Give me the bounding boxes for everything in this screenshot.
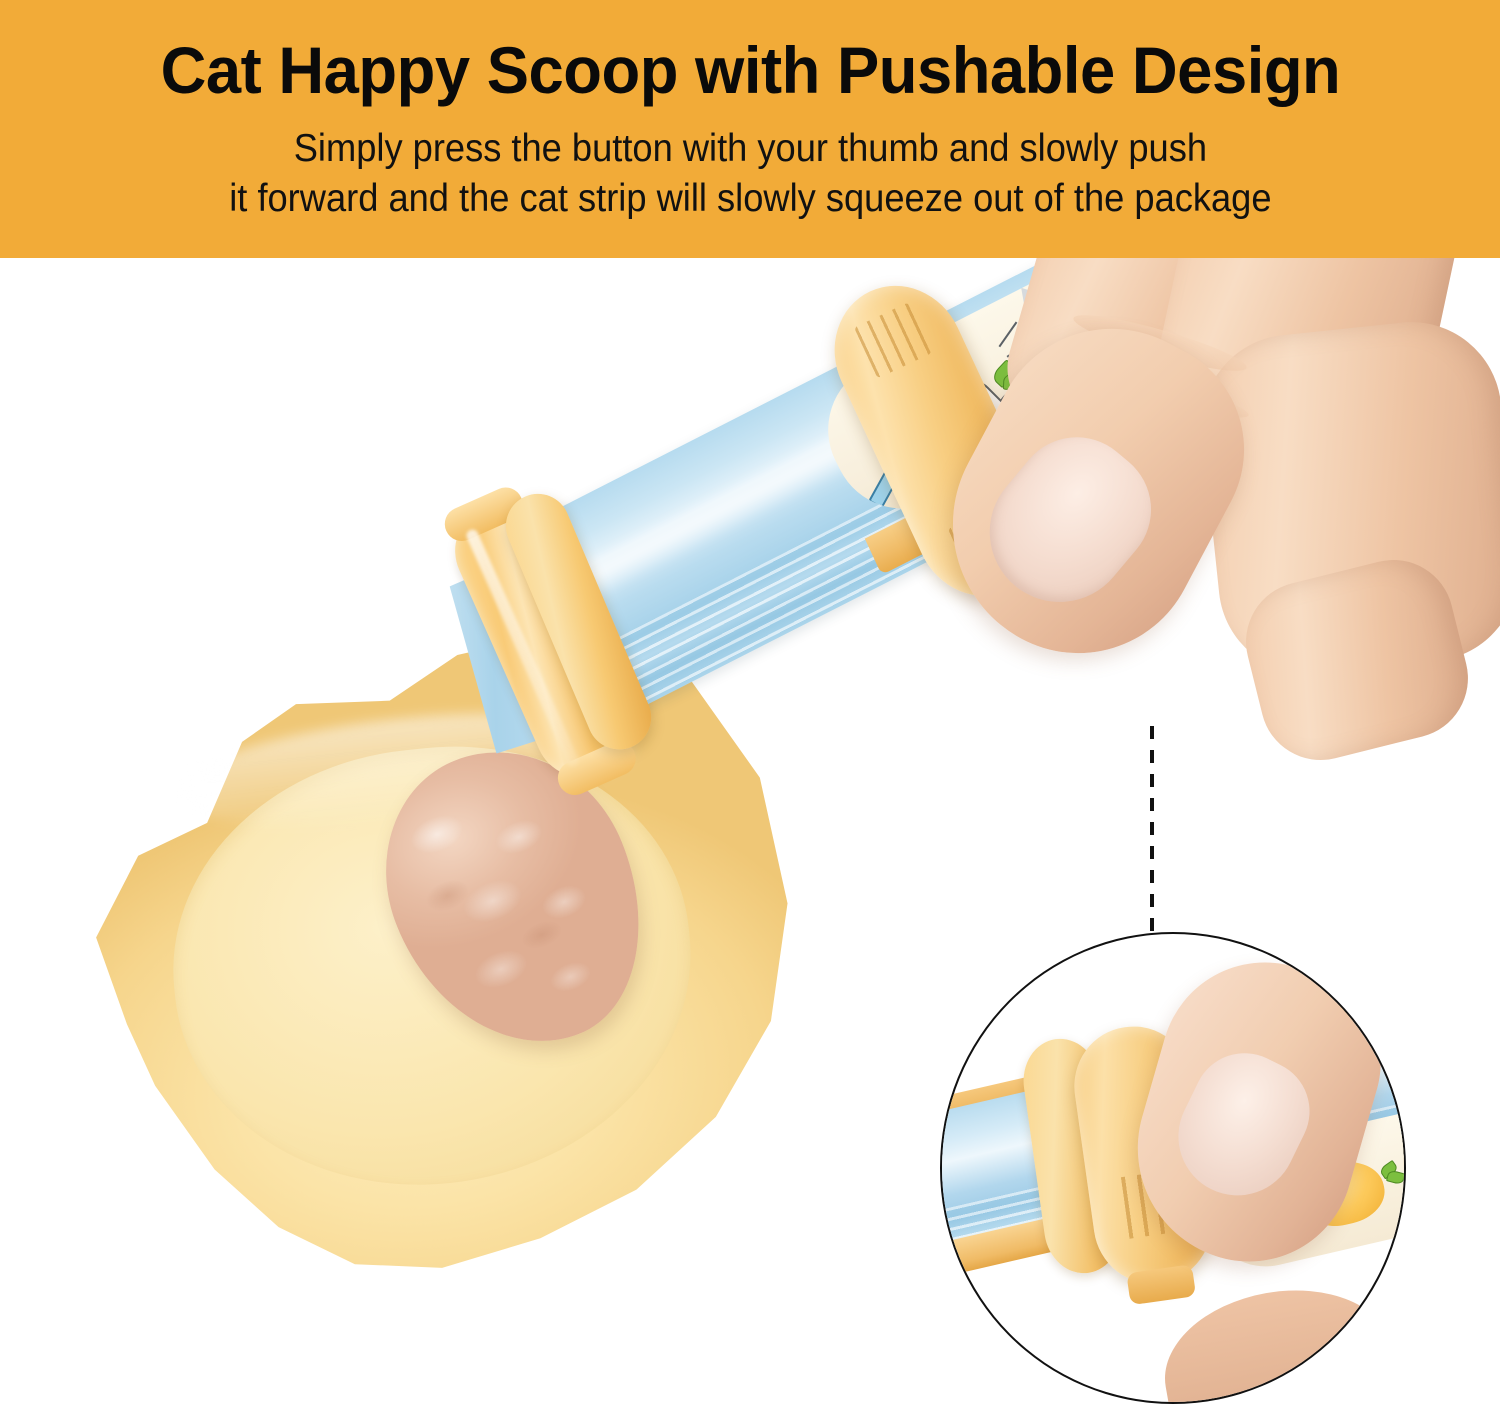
hand <box>880 258 1500 778</box>
banner-title: Cat Happy Scoop with Pushable Design <box>160 34 1340 106</box>
inset-sprout-icon <box>1379 1160 1406 1185</box>
inset-sprout-leaf-b <box>1386 1169 1406 1185</box>
callout-dashed-line <box>1150 726 1154 934</box>
inset-detail-circle <box>940 932 1406 1404</box>
thumbnail <box>961 412 1176 631</box>
inset-scene <box>942 934 1404 1402</box>
banner-subtitle: Simply press the button with your thumb … <box>229 124 1271 224</box>
inset-thumbnail <box>1159 1036 1327 1215</box>
callout-dash-stroke <box>1150 726 1154 934</box>
product-marketing-image: Cat Happy Scoop with Pushable Design Sim… <box>0 0 1500 1404</box>
banner-subtitle-line-1: Simply press the button with your thumb … <box>293 127 1206 170</box>
inset-push-button-foot <box>1126 1264 1196 1305</box>
banner-subtitle-line-2: it forward and the cat strip will slowly… <box>229 174 1271 224</box>
product-photo <box>0 258 1500 1404</box>
header-banner: Cat Happy Scoop with Pushable Design Sim… <box>0 0 1500 258</box>
